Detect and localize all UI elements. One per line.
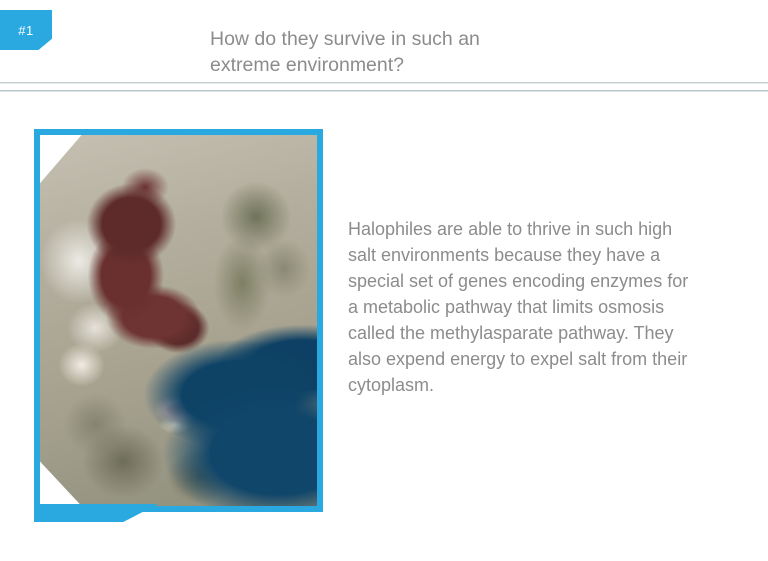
satellite-photo: [40, 135, 317, 506]
slide-title: How do they survive in such an extreme e…: [210, 26, 640, 78]
slide-number-label: #1: [18, 24, 33, 37]
header-divider-line-bottom-shadow: [0, 91, 768, 92]
photo-frame-tail-tab: [34, 504, 158, 522]
photo-frame: [34, 129, 323, 512]
photo-frame-inner: [40, 135, 317, 506]
header-divider-line-top-shadow: [0, 83, 768, 84]
body-paragraph: Halophiles are able to thrive in such hi…: [348, 216, 700, 398]
slide-number-badge: #1: [0, 10, 52, 50]
